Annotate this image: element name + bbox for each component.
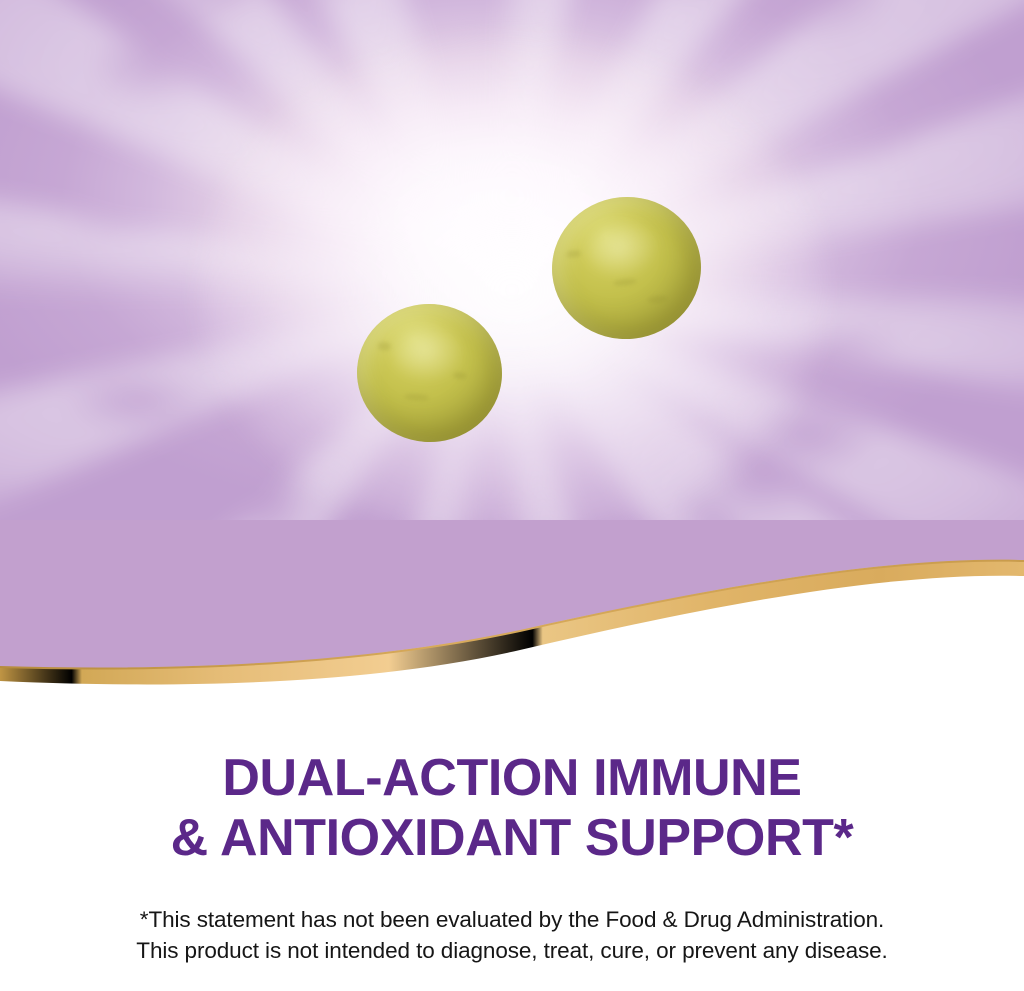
gold-wave-divider — [0, 520, 1024, 710]
disclaimer-line-2: This product is not intended to diagnose… — [0, 935, 1024, 966]
caption-block: DUAL-ACTION IMMUNE & ANTIOXIDANT SUPPORT… — [0, 748, 1024, 966]
fda-disclaimer: *This statement has not been evaluated b… — [0, 904, 1024, 966]
tablet-texture — [377, 342, 391, 351]
disclaimer-line-1: *This statement has not been evaluated b… — [0, 904, 1024, 935]
headline-line-2: & ANTIOXIDANT SUPPORT* — [0, 808, 1024, 868]
page-title: DUAL-ACTION IMMUNE & ANTIOXIDANT SUPPORT… — [0, 748, 1024, 868]
product-banner: DUAL-ACTION IMMUNE & ANTIOXIDANT SUPPORT… — [0, 0, 1024, 991]
headline-line-1: DUAL-ACTION IMMUNE — [0, 748, 1024, 808]
